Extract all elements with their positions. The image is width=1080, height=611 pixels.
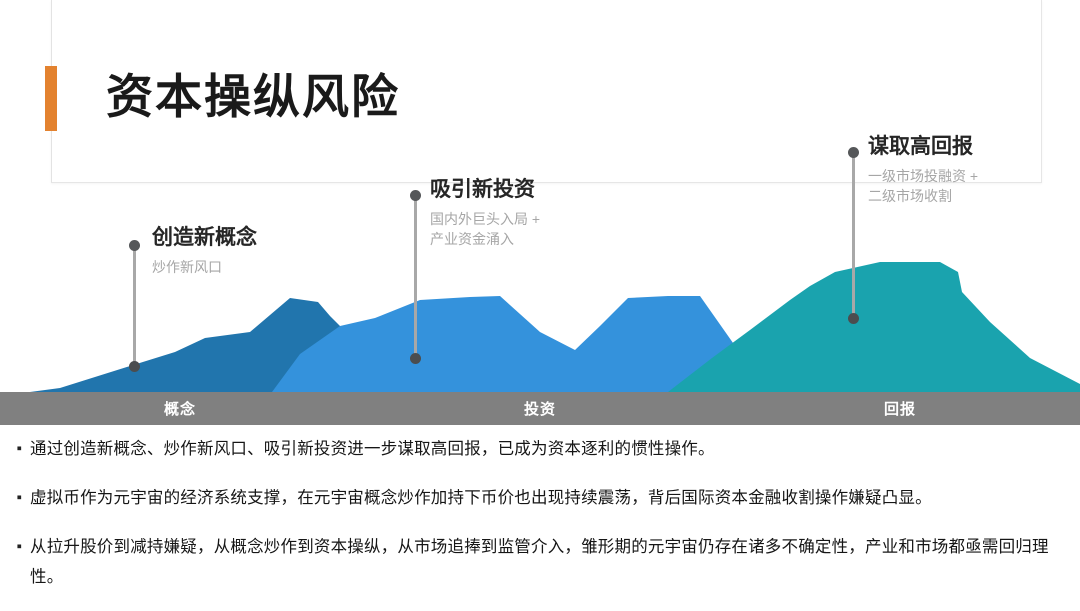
stage-label-investment: 投资 [360, 392, 720, 425]
bullet-item: ▪ 通过创造新概念、炒作新风口、吸引新投资进一步谋取高回报，已成为资本逐利的惯性… [0, 434, 1080, 464]
stage-label-concept: 概念 [0, 392, 360, 425]
callout-title: 创造新概念 [152, 226, 257, 251]
pin-line [852, 152, 855, 318]
callout-title: 谋取高回报 [868, 135, 978, 160]
bullet-text: 从拉升股价到减持嫌疑，从概念炒作到资本操纵，从市场追捧到监管介入，雏形期的元宇宙… [30, 532, 1080, 592]
stage-label-return: 回报 [720, 392, 1080, 425]
bullet-item: ▪ 从拉升股价到减持嫌疑，从概念炒作到资本操纵，从市场追捧到监管介入，雏形期的元… [0, 532, 1080, 592]
pin-dot-top [848, 147, 859, 158]
callout-subtitle-line: 国内外巨头入局 + [430, 210, 540, 230]
callout-concept: 创造新概念 炒作新风口 [152, 226, 257, 278]
callout-title: 吸引新投资 [430, 178, 540, 203]
page-title: 资本操纵风险 [106, 58, 400, 127]
bullet-marker: ▪ [0, 483, 30, 513]
callout-investment: 吸引新投资 国内外巨头入局 + 产业资金涌入 [430, 178, 540, 250]
pin-line [414, 195, 417, 358]
bullet-marker: ▪ [0, 532, 30, 562]
pin-dot-top [129, 240, 140, 251]
pin-line [133, 245, 136, 366]
area-series-return [668, 262, 1080, 392]
callout-subtitle-line: 产业资金涌入 [430, 230, 540, 250]
pin-dot-bottom [129, 361, 140, 372]
bullet-list: ▪ 通过创造新概念、炒作新风口、吸引新投资进一步谋取高回报，已成为资本逐利的惯性… [0, 434, 1080, 611]
pin-dot-bottom [848, 313, 859, 324]
callout-return: 谋取高回报 一级市场投融资 + 二级市场收割 [868, 135, 978, 207]
pin-dot-bottom [410, 353, 421, 364]
stage-bar: 概念 投资 回报 [0, 392, 1080, 425]
bullet-item: ▪ 虚拟币作为元宇宙的经济系统支撑，在元宇宙概念炒作加持下币价也出现持续震荡，背… [0, 483, 1080, 513]
callout-subtitle-line: 一级市场投融资 + [868, 167, 978, 187]
pin-dot-top [410, 190, 421, 201]
bullet-text: 通过创造新概念、炒作新风口、吸引新投资进一步谋取高回报，已成为资本逐利的惯性操作… [30, 434, 1080, 464]
bullet-text: 虚拟币作为元宇宙的经济系统支撑，在元宇宙概念炒作加持下币价也出现持续震荡，背后国… [30, 483, 1080, 513]
accent-bar [45, 66, 57, 131]
callout-subtitle-line: 炒作新风口 [152, 258, 257, 278]
callout-subtitle-line: 二级市场收割 [868, 187, 978, 207]
bullet-marker: ▪ [0, 434, 30, 464]
